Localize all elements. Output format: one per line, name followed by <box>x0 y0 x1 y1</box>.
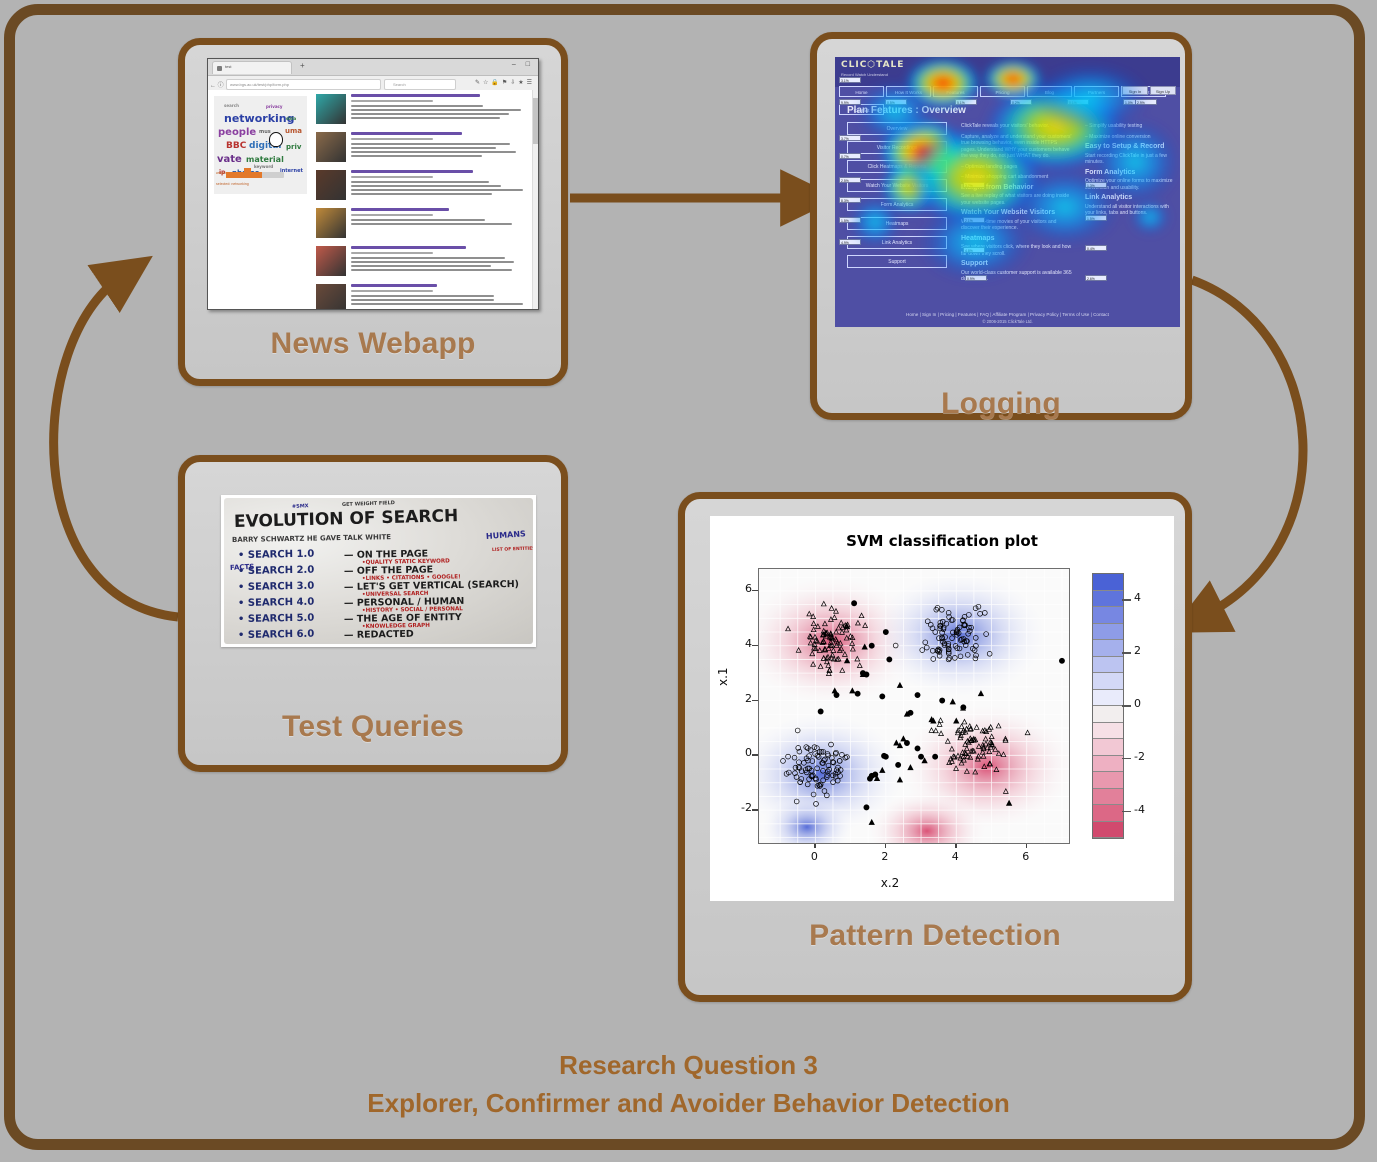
heatmap-percent-label: 1.5% <box>1085 215 1107 221</box>
result-snippet-line <box>351 143 510 145</box>
colorbar-band <box>1093 673 1123 690</box>
y-tick-label: 4 <box>732 637 752 650</box>
result-title[interactable] <box>351 170 473 173</box>
word-cloud-term[interactable]: data <box>286 116 296 121</box>
search-result-item[interactable] <box>316 94 530 125</box>
word-cloud-panel[interactable]: networkingpeopleBBCdigitalvatematerialph… <box>214 96 307 194</box>
box-label-pattern-detection: Pattern Detection <box>685 919 1185 953</box>
colorbar-tick-label: -2 <box>1134 750 1145 763</box>
heatmap-percent-label: 0.2% <box>1010 99 1032 105</box>
colorbar-band <box>1093 591 1123 608</box>
search-results-list[interactable] <box>316 94 530 309</box>
x-tick-label: 4 <box>945 850 965 863</box>
footer-links[interactable]: Home | Sign In | Pricing | Features | FA… <box>835 312 1180 317</box>
heatmap-percent-label: 9.9% <box>839 99 861 105</box>
sidebar-item[interactable]: Overview <box>847 122 947 135</box>
word-cloud-term[interactable]: material <box>246 155 284 164</box>
section-heading: Link Analytics <box>1085 195 1177 202</box>
tab-favicon-icon <box>217 66 222 71</box>
heatmap-percent-label: 1.5% <box>839 217 861 223</box>
feature-sidebar[interactable]: OverviewVisitor RecordingsClick Heatmaps… <box>847 122 947 274</box>
y-axis-label: x.1 <box>716 667 730 686</box>
x-axis-label: x.2 <box>710 876 1070 890</box>
colorbar-tick-mark <box>1122 599 1131 601</box>
page-heading: Plan Features : Overview <box>847 105 966 116</box>
word-cloud-term[interactable]: priv <box>286 143 301 151</box>
result-snippet-line <box>351 193 492 195</box>
result-text <box>351 170 530 195</box>
data-points <box>759 569 1069 843</box>
arrow-logging-to-pattern <box>1192 280 1303 615</box>
caption: Research Question 3 Explorer, Confirmer … <box>0 1046 1377 1122</box>
box-label-test-queries: Test Queries <box>185 710 561 744</box>
heatmap-percent-label: 3.7% <box>839 135 861 141</box>
whiteboard-line-left: • SEARCH 5.0 <box>238 613 314 625</box>
auth-buttons[interactable]: Sign InSign Up <box>1120 80 1176 98</box>
colorbar-ticks: 420-2-4 <box>1122 568 1174 842</box>
feature-bullet: – Simplify usability testing <box>1085 123 1177 130</box>
result-meta <box>351 214 433 216</box>
heatmap-percent-label: 3.1% <box>839 77 861 83</box>
diagram-canvas: test + – □ ← ⓘ www.bgs.ac.uk/test/php/fo… <box>0 0 1377 1162</box>
stage-box-logging[interactable]: CLIC⬡TALE Record Watch Understand HomeHo… <box>810 32 1192 420</box>
word-cloud-term[interactable]: vate <box>217 154 242 165</box>
y-tick-label: 0 <box>732 746 752 759</box>
search-result-item[interactable] <box>316 170 530 201</box>
result-thumbnail <box>316 208 346 238</box>
browser-tab-title: test <box>225 64 231 69</box>
heatmap-percent-label: 0.1% <box>1067 99 1089 105</box>
site-nav-item[interactable]: Partners <box>1074 86 1119 97</box>
browser-window-screenshot: test + – □ ← ⓘ www.bgs.ac.uk/test/php/fo… <box>207 58 539 310</box>
search-result-item[interactable] <box>316 284 530 310</box>
colorbar-tick-label: 4 <box>1134 591 1141 604</box>
sidebar-item[interactable]: Heatmaps <box>847 217 947 230</box>
whiteboard-annotation: HUMANS <box>486 529 526 541</box>
result-thumbnail <box>316 94 346 124</box>
colorbar-band <box>1093 739 1123 756</box>
site-nav-item[interactable]: How It Works <box>886 86 931 97</box>
heatmap-percent-label: 2.9% <box>1135 99 1157 105</box>
weight-slider-knob[interactable] <box>244 168 251 176</box>
result-snippet-line <box>351 105 483 107</box>
y-tick-label: 2 <box>732 692 752 705</box>
x-tick-label: 2 <box>875 850 895 863</box>
result-meta <box>351 290 433 292</box>
sidebar-item[interactable]: Support <box>847 255 947 268</box>
site-nav-item[interactable]: Features <box>933 86 978 97</box>
caption-line-2: Explorer, Confirmer and Avoider Behavior… <box>0 1084 1377 1122</box>
result-title[interactable] <box>351 208 449 211</box>
heatmap-percent-label: 5.1% <box>955 99 977 105</box>
page-content: networkingpeopleBBCdigitalvatematerialph… <box>208 90 538 309</box>
x-tick-label: 0 <box>804 850 824 863</box>
content-column-right: – Simplify usability testing– Maximize o… <box>1085 123 1177 221</box>
result-text <box>351 246 530 271</box>
toolbar-icons[interactable]: ✎☆🔒⚑⇩★☰ <box>475 79 535 86</box>
result-snippet-line <box>351 155 482 157</box>
svm-plot-card: SVM classification plot x.1 x.2 -20246 0… <box>710 516 1174 901</box>
copyright: © 2006-2015 ClickTale Ltd. <box>835 319 1180 324</box>
plot-panel <box>758 568 1070 844</box>
result-snippet-line <box>351 269 512 271</box>
search-result-item[interactable] <box>316 208 530 239</box>
auth-button[interactable]: Sign In <box>1122 86 1148 95</box>
whiteboard-annotation: FACTS <box>230 563 255 572</box>
colorbar-tick-label: 2 <box>1134 644 1141 657</box>
feature-bullet: – Maximize online conversion <box>1085 134 1177 141</box>
result-title[interactable] <box>351 246 466 249</box>
result-title[interactable] <box>351 284 437 287</box>
whiteboard-subtitle: BARRY SCHWARTZ HE GAVE TALK WHITE <box>232 533 391 544</box>
sidebar-item[interactable]: Link Analytics <box>847 236 947 249</box>
address-bar-input[interactable]: www.bgs.ac.uk/test/php/form.php <box>226 79 381 90</box>
result-snippet-line <box>351 261 514 263</box>
result-snippet-line <box>351 257 505 259</box>
word-cloud-term[interactable]: search <box>224 103 239 108</box>
feature-bullet: – Minimize shopping cart abandonment <box>961 174 1073 181</box>
whiteboard-annotation: GET WEIGHT FIELD <box>342 500 395 508</box>
stage-box-test-queries[interactable]: EVOLUTION OF SEARCHBARRY SCHWARTZ HE GAV… <box>178 455 568 772</box>
sidebar-item[interactable]: Visitor Recordings <box>847 141 947 154</box>
colorbar-tick-label: -4 <box>1134 803 1145 816</box>
colorbar-tick-label: 0 <box>1134 697 1141 710</box>
window-controls[interactable]: – □ <box>512 61 534 68</box>
result-snippet-line <box>351 189 523 191</box>
site-nav-item[interactable]: Home <box>839 86 884 97</box>
x-tick-label: 6 <box>1016 850 1036 863</box>
heatmap-percent-label: 2.1% <box>963 217 985 223</box>
result-text <box>351 94 530 119</box>
section-heading: Support <box>961 261 1073 268</box>
colorbar-tick-mark <box>1122 652 1131 654</box>
colorbar-tick-mark <box>1122 705 1131 707</box>
colorbar-band <box>1093 772 1123 789</box>
heatmap-percent-label: 1.3% <box>1085 182 1107 188</box>
section-heading: Form Analytics <box>1085 170 1177 177</box>
heatmap-percent-label: 2.5% <box>839 177 861 183</box>
colorbar-band <box>1093 805 1123 822</box>
whiteboard-line-left: • SEARCH 6.0 <box>238 629 314 641</box>
whiteboard-line-left: • SEARCH 3.0 <box>238 581 314 593</box>
result-snippet-line <box>351 147 496 149</box>
heatmap-percent-label: 0.4% <box>1085 245 1107 251</box>
arrow-test-to-news <box>54 278 178 617</box>
result-snippet-line <box>351 117 500 119</box>
auth-button[interactable]: Sign Up <box>1150 86 1176 95</box>
result-snippet-line <box>351 219 485 221</box>
intro-text: ClickTale reveals your visitors' behavio… <box>961 123 1073 130</box>
browser-tabstrip: test + – □ <box>208 59 538 76</box>
y-tick-label: 6 <box>732 582 752 595</box>
cursor-icon <box>269 132 283 147</box>
whiteboard-line-right: — REDACTED <box>344 629 414 641</box>
heatmap-percent-label: 0.9% <box>965 275 987 281</box>
result-text <box>351 284 530 305</box>
result-meta <box>351 176 433 178</box>
colorbar-band <box>1093 723 1123 740</box>
word-cloud-term[interactable]: networking <box>224 112 295 125</box>
heatmap-percent-label: 4.9% <box>839 239 861 245</box>
whiteboard-line-left: • SEARCH 4.0 <box>238 597 314 609</box>
whiteboard-photo: EVOLUTION OF SEARCHBARRY SCHWARTZ HE GAV… <box>221 495 536 647</box>
colorbar-band <box>1093 706 1123 723</box>
stage-box-news-webapp[interactable]: test + – □ ← ⓘ www.bgs.ac.uk/test/php/fo… <box>178 38 568 386</box>
site-nav-item[interactable]: Pricing <box>980 86 1025 97</box>
selected-word-label: selected: networking <box>216 182 249 186</box>
heatmap-percent-label: 0.7% <box>839 153 861 159</box>
result-meta <box>351 138 433 140</box>
result-snippet-line <box>351 223 512 225</box>
site-nav-item[interactable]: Blog <box>1027 86 1072 97</box>
colorbar-band <box>1093 657 1123 674</box>
search-result-item[interactable] <box>316 132 530 163</box>
heatmap-screenshot: CLIC⬡TALE Record Watch Understand HomeHo… <box>835 57 1180 327</box>
result-thumbnail <box>316 246 346 276</box>
colorbar-band <box>1093 624 1123 641</box>
colorbar-band <box>1093 640 1123 657</box>
vertical-scrollbar[interactable] <box>532 90 538 309</box>
intro-text: Capture, analyze and understand your cus… <box>961 134 1073 160</box>
whiteboard-title: EVOLUTION OF SEARCH <box>234 506 459 532</box>
colorbar-tick-mark <box>1122 758 1131 760</box>
back-icon[interactable]: ← ⓘ <box>210 80 224 89</box>
result-title[interactable] <box>351 132 462 135</box>
result-snippet-line <box>351 265 491 267</box>
section-heading: Watch Your Website Visitors <box>961 210 1073 217</box>
stage-box-pattern-detection[interactable]: SVM classification plot x.1 x.2 -20246 0… <box>678 492 1192 1002</box>
whiteboard-surface: EVOLUTION OF SEARCHBARRY SCHWARTZ HE GAV… <box>224 498 533 644</box>
result-snippet-line <box>351 295 494 297</box>
colorbar-band <box>1093 822 1123 839</box>
browser-tab[interactable]: test <box>212 61 292 74</box>
result-title[interactable] <box>351 94 480 97</box>
result-snippet-line <box>351 109 521 111</box>
section-heading: Easy to Setup & Record <box>1085 144 1177 151</box>
y-tick-label: -2 <box>732 801 752 814</box>
whiteboard-annotation: LIST OF ENTITIES <box>492 546 533 553</box>
heatmap-percent-label: 3.7% <box>963 182 985 188</box>
result-thumbnail <box>316 170 346 200</box>
colorbar-band <box>1093 574 1123 591</box>
result-thumbnail <box>316 132 346 162</box>
whiteboard-annotation: #SMX <box>292 503 309 510</box>
search-result-item[interactable] <box>316 246 530 277</box>
colorbar-band <box>1093 789 1123 806</box>
heatmap-percent-label: 4.8% <box>963 247 985 253</box>
sidebar-item[interactable]: Click Heatmaps & Reports <box>847 160 947 173</box>
word-cloud-term[interactable]: mus <box>259 129 271 135</box>
word-cloud-term[interactable]: uma <box>285 127 302 135</box>
heatmap-percent-label: 0.5% <box>885 99 907 105</box>
result-snippet-line <box>351 299 494 301</box>
box-label-news-webapp: News Webapp <box>185 327 561 361</box>
word-cloud-term[interactable]: privacy <box>266 104 283 109</box>
result-snippet-line <box>351 185 501 187</box>
word-cloud-term[interactable]: people <box>218 127 256 138</box>
heatmap-percent-label: 2.6% <box>1085 275 1107 281</box>
word-cloud-term[interactable]: keyword <box>254 164 273 169</box>
clicktale-page: CLIC⬡TALE Record Watch Understand HomeHo… <box>835 57 1180 327</box>
result-text <box>351 132 530 157</box>
content-column-left: ClickTale reveals your visitors' behavio… <box>961 123 1073 287</box>
box-label-logging: Logging <box>817 387 1185 421</box>
word-cloud-term[interactable]: BBC <box>226 141 246 151</box>
feature-bullet: – Optimize landing pages <box>961 164 1073 171</box>
weight-slider-label: weight <box>216 171 226 175</box>
result-text <box>351 208 530 225</box>
result-snippet-line <box>351 181 489 183</box>
whiteboard-line-left: • SEARCH 1.0 <box>238 549 314 561</box>
colorbar-band <box>1093 756 1123 773</box>
colorbar-tick-mark <box>1122 811 1131 813</box>
section-heading: Heatmaps <box>961 236 1073 243</box>
result-snippet-line <box>351 303 523 305</box>
colorbar <box>1092 573 1124 839</box>
sidebar-item[interactable]: Watch Your Website Visitors <box>847 179 947 192</box>
section-body: Start recording ClickTale in just a few … <box>1085 153 1177 166</box>
result-meta <box>351 100 433 102</box>
clicktale-logo: CLIC⬡TALE <box>841 60 904 70</box>
new-tab-icon[interactable]: + <box>300 62 305 70</box>
result-thumbnail <box>316 284 346 310</box>
result-meta <box>351 252 433 254</box>
sidebar-item[interactable]: Form Analytics <box>847 198 947 211</box>
weight-slider[interactable] <box>226 172 284 178</box>
chart-title: SVM classification plot <box>710 532 1174 550</box>
result-snippet-line <box>351 151 516 153</box>
browser-search-input[interactable]: Search <box>384 79 456 90</box>
caption-line-1: Research Question 3 <box>0 1046 1377 1084</box>
result-snippet-line <box>351 113 509 115</box>
colorbar-band <box>1093 690 1123 707</box>
heatmap-percent-label: 8.3% <box>839 197 861 203</box>
colorbar-band <box>1093 607 1123 624</box>
section-body: See a live replay of what visitors are d… <box>961 193 1073 206</box>
